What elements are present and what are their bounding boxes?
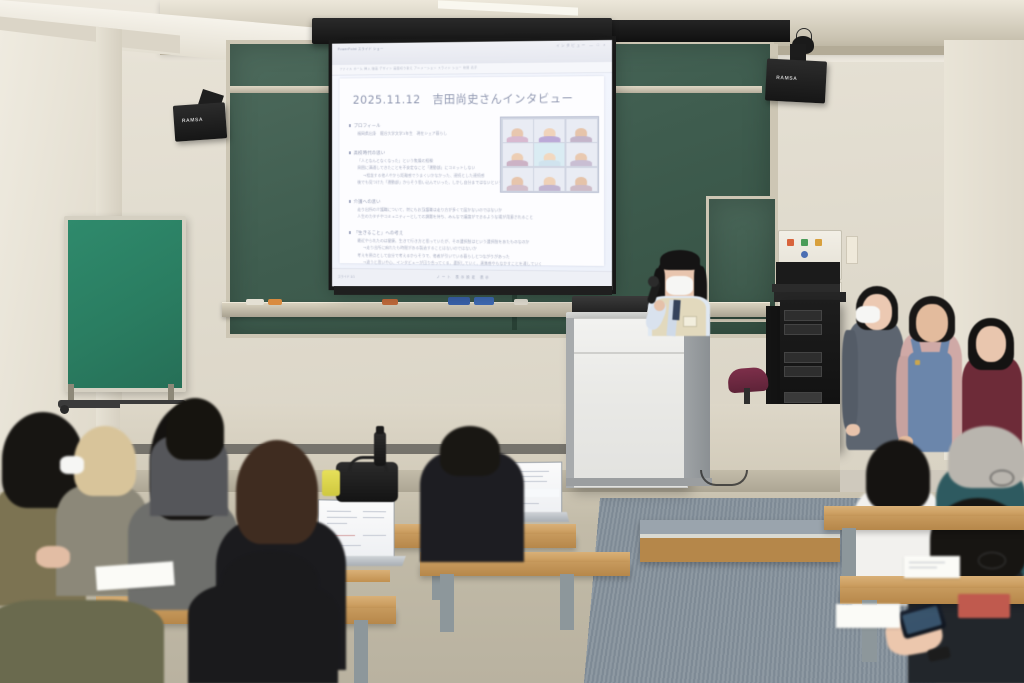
presenter-bangs	[660, 250, 700, 270]
bullet-marker-icon	[349, 125, 351, 127]
eraser-blue	[448, 297, 470, 305]
lectern-base	[566, 478, 712, 486]
bullet-heading-text: 介護への思い	[354, 200, 381, 205]
chalk-white-2	[514, 299, 528, 305]
presenter-necktie	[672, 300, 680, 320]
bullet-marker-icon	[349, 200, 351, 202]
bullet-heading: 介護への思い	[354, 199, 534, 206]
standing-person-3-head	[976, 326, 1006, 362]
statusbar-center: ノート 表示設定 表示	[436, 275, 490, 281]
caster-left	[60, 405, 69, 414]
lectern-side-panel	[684, 314, 710, 484]
slide-bullet-group-1: プロフィール 福岡県出身 龍谷大学文学1年生 現在シェア暮らし	[354, 123, 448, 137]
colored-flyer	[958, 594, 1010, 618]
lectern	[570, 318, 688, 488]
video-participant-tile	[502, 143, 532, 166]
standing-person-2-head	[916, 304, 948, 342]
water-bottle	[374, 432, 386, 466]
screen-bottom-bar	[334, 286, 612, 295]
ramsa-logo-left: RAMSA	[182, 117, 204, 124]
desk-leg-panel	[560, 574, 574, 630]
video-participant-tile	[566, 143, 597, 166]
slide-bullet-group-3: 介護への思い 走り出所の介護職について、特にもお互護職は走り方が多くて届かないの…	[354, 199, 534, 221]
rack-unit	[784, 324, 822, 335]
lectern-left-edge	[566, 318, 574, 488]
online-meeting-grid	[500, 116, 599, 193]
panel-knob[interactable]	[801, 251, 808, 258]
portable-green-board	[64, 216, 186, 392]
video-participant-tile	[534, 119, 564, 142]
desk-leg-panel	[842, 528, 856, 578]
rack-unit	[784, 352, 822, 363]
rack-unit	[784, 310, 822, 321]
video-participant-tile	[534, 143, 564, 166]
bullet-heading-text: プロフィール	[354, 124, 381, 129]
rack-shelf	[772, 284, 840, 292]
bullet-line: 人生のカタチやコミュニティーとしての課題を持ち、みんなで議論ができるような場が用…	[357, 214, 533, 221]
bottle-cap	[376, 426, 384, 434]
bullet-line: 考えを原点として自分で考えるからそうで、他者が引いている暮らしとつながりがあった	[357, 252, 542, 260]
chalk-red	[382, 299, 398, 305]
panel-button-green[interactable]	[801, 239, 808, 246]
audience-hand-writing	[36, 546, 70, 568]
bullet-heading: 「生きること」への考え	[354, 230, 543, 237]
window-controls: インタビュー — □ ×	[556, 43, 607, 49]
bullet-marker-icon	[349, 152, 351, 154]
presenter-name-badge	[683, 316, 697, 327]
projection-screen: PowerPoint スライド ショー インタビュー — □ × ファイル ホー…	[332, 40, 612, 290]
rack-upper-box	[776, 262, 840, 286]
ramsa-speaker-left: RAMSA	[173, 102, 227, 142]
wall-plate	[846, 236, 858, 264]
presenter-face-mask	[666, 276, 693, 295]
overalls-buckle	[915, 360, 920, 365]
lecture-hall-photo: PowerPoint スライド ショー インタビュー — □ × ファイル ホー…	[0, 0, 1024, 683]
ramsa-logo-right: RAMSA	[776, 75, 798, 82]
standing-person-1-hand	[846, 424, 860, 436]
ppt-titlebar-text: PowerPoint スライド ショー	[338, 46, 384, 51]
panel-button-red[interactable]	[787, 239, 794, 246]
bullet-line: →走り出所に痲れたも時間がある製造することはないのではないか	[363, 245, 542, 253]
desk-leg-panel	[440, 574, 454, 632]
ppt-ribbon: ファイル ホーム 挿入 描画 デザイン 画面切り替え アニメーション スライド …	[332, 62, 612, 76]
bullet-heading-text: 高校時代の思い	[354, 151, 386, 156]
yellow-cup	[322, 470, 340, 496]
slide-title: 2025.11.12 吉田尚史さんインタビュー	[353, 90, 574, 107]
video-participant-tile	[566, 167, 597, 190]
panel-button-amber[interactable]	[815, 239, 822, 246]
eraser-blue-2	[474, 297, 494, 305]
ppt-ribbon-text: ファイル ホーム 挿入 描画 デザイン 画面切り替え アニメーション スライド …	[340, 65, 478, 70]
bullet-line: 福岡県出身 龍谷大学文学1年生 現在シェア暮らし	[357, 130, 447, 136]
stage-step	[640, 520, 840, 562]
video-participant-tile	[502, 119, 532, 142]
video-participant-tile	[502, 167, 532, 190]
screen-housing-right	[600, 20, 790, 42]
lectern-seam	[572, 352, 684, 354]
desk-leg-panel	[354, 620, 368, 683]
microphone-head-icon	[648, 276, 659, 287]
slide-number: スライド 1/1	[338, 274, 355, 279]
presenter-hand	[654, 300, 665, 311]
chalk-white	[246, 299, 264, 305]
video-participant-tile	[534, 167, 564, 190]
ramsa-speaker-right: RAMSA	[765, 58, 827, 103]
handout-paper	[904, 556, 960, 578]
handout-paper	[836, 604, 900, 628]
chalk-orange	[268, 299, 282, 305]
standing-person-1-mask	[856, 306, 880, 323]
rack-unit	[784, 392, 822, 403]
bullet-line: 走り出所の介護職について、特にもお互護職は走り方が多くて届かないのではないか	[357, 206, 533, 213]
step-nosing	[640, 534, 840, 538]
bullet-line: 最近やられたのは健康、生きて行き方と思っていたが、その選択肢はという選択肢をあた…	[357, 238, 542, 245]
standing-person-1-arm	[842, 330, 858, 430]
video-participant-tile	[566, 119, 597, 142]
bullet-line: →違うと思いや心、インタビューが回り合ってくる、選択していく、連携感やもなかすこ…	[363, 260, 542, 268]
rack-unit	[784, 366, 822, 377]
slide-bullet-group-4: 「生きること」への考え 最近やられたのは健康、生きて行き方と思っていたが、その選…	[354, 230, 543, 267]
bullet-marker-icon	[349, 231, 351, 233]
bullet-heading-text: 「生きること」への考え	[354, 231, 404, 236]
bullet-heading: プロフィール	[354, 123, 448, 129]
denim-overalls	[908, 352, 952, 452]
projected-slide: PowerPoint スライド ショー インタビュー — □ × ファイル ホー…	[332, 40, 612, 290]
slide-canvas: 2025.11.12 吉田尚史さんインタビュー プロフィール 福岡県出身 龍谷大…	[340, 76, 604, 266]
